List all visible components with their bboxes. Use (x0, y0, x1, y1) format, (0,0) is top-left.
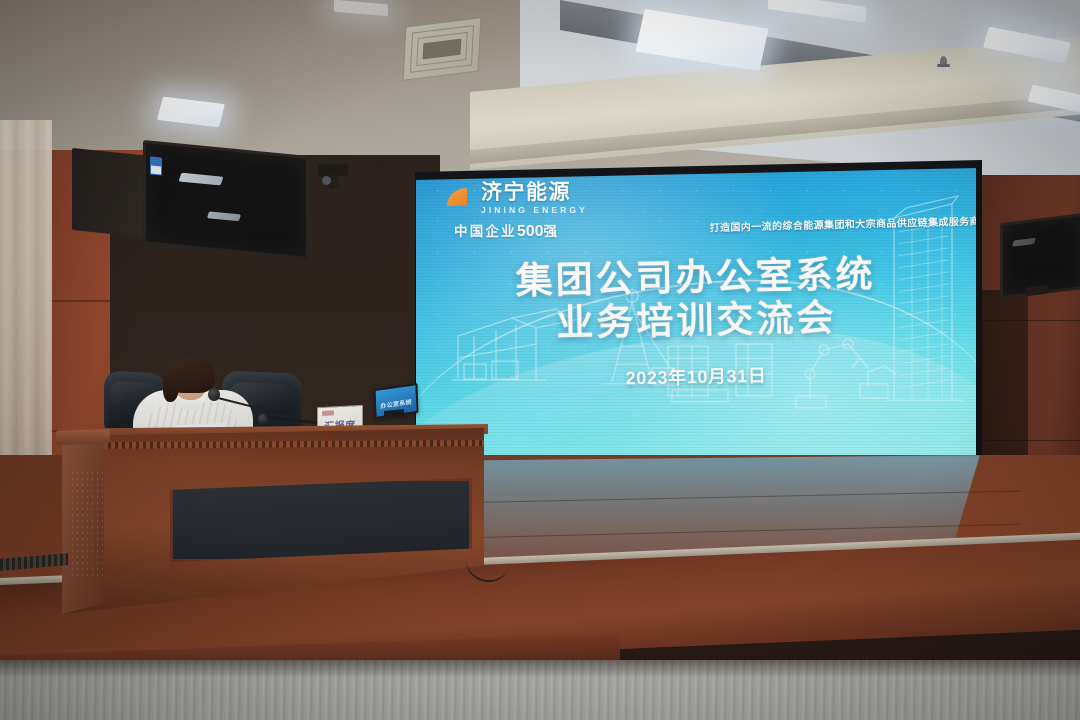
screen-title: 集团公司办公室系统 业务培训交流会 (416, 251, 976, 348)
dais-side-cap (56, 429, 110, 445)
microphone-head-icon (208, 388, 220, 401)
speaker-hair (163, 372, 179, 402)
dais-inset-panel (170, 478, 472, 562)
wall-speaker (72, 148, 150, 238)
dais-specular-highlight (70, 470, 106, 580)
accolade-prefix: 中国企业 (454, 224, 517, 239)
logo-company-name-cn: 济宁能源 (481, 182, 588, 203)
led-video-wall[interactable]: 济宁能源 JINING ENERGY 中国企业500强 打造国内一流的综合能源集… (416, 168, 976, 474)
screen-glare (207, 211, 241, 221)
podium-monitor-text: 办公室系统 (376, 396, 416, 411)
logo-accolade: 中国企业500强 (454, 220, 634, 241)
fire-sprinkler-icon (940, 56, 947, 67)
logo-company-name-en: JINING ENERGY (481, 205, 588, 215)
accolade-number: 500 (517, 223, 544, 240)
ceiling-camera-icon (318, 164, 348, 176)
screen-glare (179, 173, 224, 186)
carpet-shadow (0, 660, 1080, 678)
company-logo: 济宁能源 JINING ENERGY 中国企业500强 (444, 182, 634, 241)
microphone-head-icon (258, 414, 268, 425)
screen-glare (1012, 238, 1036, 247)
wall-mounted-display-left[interactable] (143, 140, 309, 260)
placard-tab (322, 410, 334, 416)
conference-room-photo: 济宁能源 JINING ENERGY 中国企业500强 打造国内一流的综合能源集… (0, 0, 1080, 720)
accolade-suffix: 强 (544, 224, 560, 239)
sunrise-quarter-circle-icon (444, 185, 474, 213)
camera-lens-icon (322, 176, 331, 185)
ceiling-air-vent-icon (403, 17, 482, 81)
display-label-tag (150, 156, 162, 175)
